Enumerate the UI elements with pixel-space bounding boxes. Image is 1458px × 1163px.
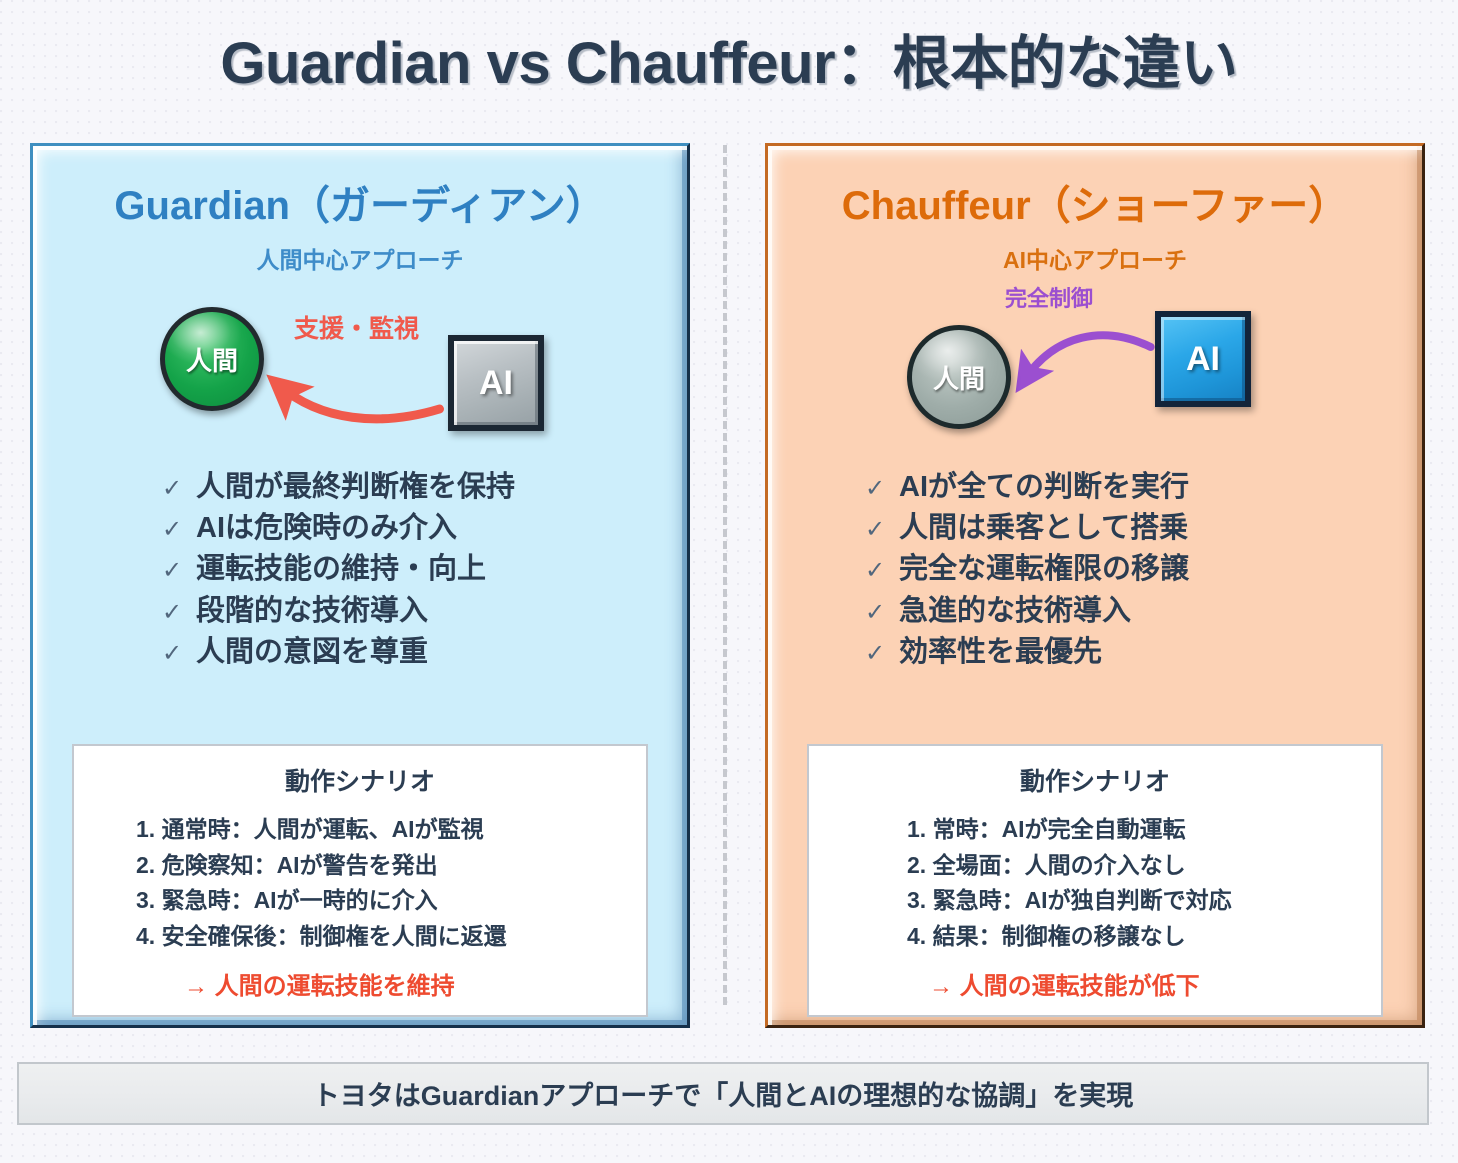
- list-item: ✓ 段階的な技術導入: [42, 591, 678, 632]
- guardian-diagram: 人間 AI 支援・監視: [42, 281, 678, 451]
- guardian-ai-label: AI: [479, 364, 513, 403]
- list-item: ✓ 人間が最終判断権を保持: [42, 467, 678, 508]
- chauffeur-scenario-title: 動作シナリオ: [819, 762, 1371, 798]
- list-item: 4. 安全確保後：制御権を人間に返還: [84, 919, 636, 954]
- chauffeur-diagram: 人間 AI 完全制御: [777, 281, 1413, 451]
- chauffeur-ai-label: AI: [1186, 340, 1220, 379]
- footer-banner: トヨタはGuardianアプローチで「人間とAIの理想的な協調」を実現: [17, 1062, 1429, 1125]
- list-item-label: 段階的な技術導入: [196, 591, 428, 632]
- page-title: Guardian vs Chauffeur：根本的な違い: [0, 0, 1458, 95]
- list-item-label: 人間の意図を尊重: [196, 632, 428, 673]
- list-item: ✓ AIが全ての判断を実行: [777, 467, 1413, 508]
- list-item: 3. 緊急時：AIが独自判断で対応: [819, 883, 1371, 918]
- list-item-label: 効率性を最優先: [899, 632, 1102, 673]
- check-icon: ✓: [162, 513, 196, 547]
- list-item-label: AIは危険時のみ介入: [196, 508, 457, 549]
- list-item-label: 運転技能の維持・向上: [196, 549, 486, 590]
- list-item: 3. 緊急時：AIが一時的に介入: [84, 883, 636, 918]
- list-item-label: 急進的な技術導入: [899, 591, 1131, 632]
- guardian-human-label: 人間: [186, 341, 238, 378]
- footer-text: トヨタはGuardianアプローチで「人間とAIの理想的な協調」を実現: [313, 1074, 1134, 1113]
- list-item: 1. 常時：AIが完全自動運転: [819, 812, 1371, 847]
- guardian-scenario-result: → 人間の運転技能を維持: [84, 966, 636, 1001]
- guardian-bullet-list: ✓ 人間が最終判断権を保持 ✓ AIは危険時のみ介入 ✓ 運転技能の維持・向上 …: [42, 467, 678, 673]
- chauffeur-ai-node: AI: [1155, 311, 1251, 407]
- check-icon: ✓: [865, 554, 899, 588]
- list-item: ✓ 運転技能の維持・向上: [42, 549, 678, 590]
- check-icon: ✓: [162, 596, 196, 630]
- list-item: ✓ AIは危険時のみ介入: [42, 508, 678, 549]
- guardian-scenario-title: 動作シナリオ: [84, 762, 636, 798]
- chauffeur-bullet-list: ✓ AIが全ての判断を実行 ✓ 人間は乗客として搭乗 ✓ 完全な運転権限の移譲 …: [777, 467, 1413, 673]
- panel-divider: [723, 145, 727, 1005]
- guardian-panel: Guardian（ガーディアン） 人間中心アプローチ 人間 AI: [30, 143, 690, 1028]
- comparison-panels: Guardian（ガーディアン） 人間中心アプローチ 人間 AI: [0, 143, 1458, 1033]
- guardian-scenario-box: 動作シナリオ 1. 通常時：人間が運転、AIが監視 2. 危険察知：AIが警告を…: [72, 744, 648, 1017]
- check-icon: ✓: [162, 554, 196, 588]
- list-item: ✓ 効率性を最優先: [777, 632, 1413, 673]
- list-item-label: AIが全ての判断を実行: [899, 467, 1189, 508]
- list-item: ✓ 急進的な技術導入: [777, 591, 1413, 632]
- list-item: ✓ 人間の意図を尊重: [42, 632, 678, 673]
- guardian-arrow-icon: [42, 281, 678, 451]
- list-item-label: 完全な運転権限の移譲: [899, 549, 1189, 590]
- check-icon: ✓: [162, 472, 196, 506]
- chauffeur-arrow-label: 完全制御: [1005, 281, 1093, 313]
- check-icon: ✓: [162, 637, 196, 671]
- check-icon: ✓: [865, 596, 899, 630]
- check-icon: ✓: [865, 637, 899, 671]
- chauffeur-scenario-result: → 人間の運転技能が低下: [819, 966, 1371, 1001]
- check-icon: ✓: [865, 513, 899, 547]
- guardian-scenario-steps: 1. 通常時：人間が運転、AIが監視 2. 危険察知：AIが警告を発出 3. 緊…: [84, 812, 636, 954]
- guardian-panel-subtitle: 人間中心アプローチ: [42, 241, 678, 275]
- chauffeur-panel-title: Chauffeur（ショーファー）: [777, 184, 1413, 228]
- guardian-ai-node: AI: [448, 335, 544, 431]
- list-item: 4. 結果：制御権の移譲なし: [819, 919, 1371, 954]
- chauffeur-scenario-steps: 1. 常時：AIが完全自動運転 2. 全場面：人間の介入なし 3. 緊急時：AI…: [819, 812, 1371, 954]
- chauffeur-human-label: 人間: [933, 359, 985, 396]
- chauffeur-panel: Chauffeur（ショーファー） AI中心アプローチ 人間 AI: [765, 143, 1425, 1028]
- list-item: 2. 危険察知：AIが警告を発出: [84, 848, 636, 883]
- chauffeur-scenario-box: 動作シナリオ 1. 常時：AIが完全自動運転 2. 全場面：人間の介入なし 3.…: [807, 744, 1383, 1017]
- check-icon: ✓: [865, 472, 899, 506]
- list-item: 1. 通常時：人間が運転、AIが監視: [84, 812, 636, 847]
- guardian-arrow-label: 支援・監視: [294, 309, 419, 345]
- guardian-panel-title: Guardian（ガーディアン）: [42, 184, 678, 228]
- chauffeur-panel-subtitle: AI中心アプローチ: [777, 241, 1413, 275]
- chauffeur-human-node: 人間: [907, 325, 1011, 429]
- guardian-human-node: 人間: [160, 307, 264, 411]
- list-item: ✓ 人間は乗客として搭乗: [777, 508, 1413, 549]
- list-item-label: 人間が最終判断権を保持: [196, 467, 515, 508]
- chauffeur-arrow-icon: [777, 281, 1413, 451]
- list-item: 2. 全場面：人間の介入なし: [819, 848, 1371, 883]
- list-item-label: 人間は乗客として搭乗: [899, 508, 1188, 549]
- list-item: ✓ 完全な運転権限の移譲: [777, 549, 1413, 590]
